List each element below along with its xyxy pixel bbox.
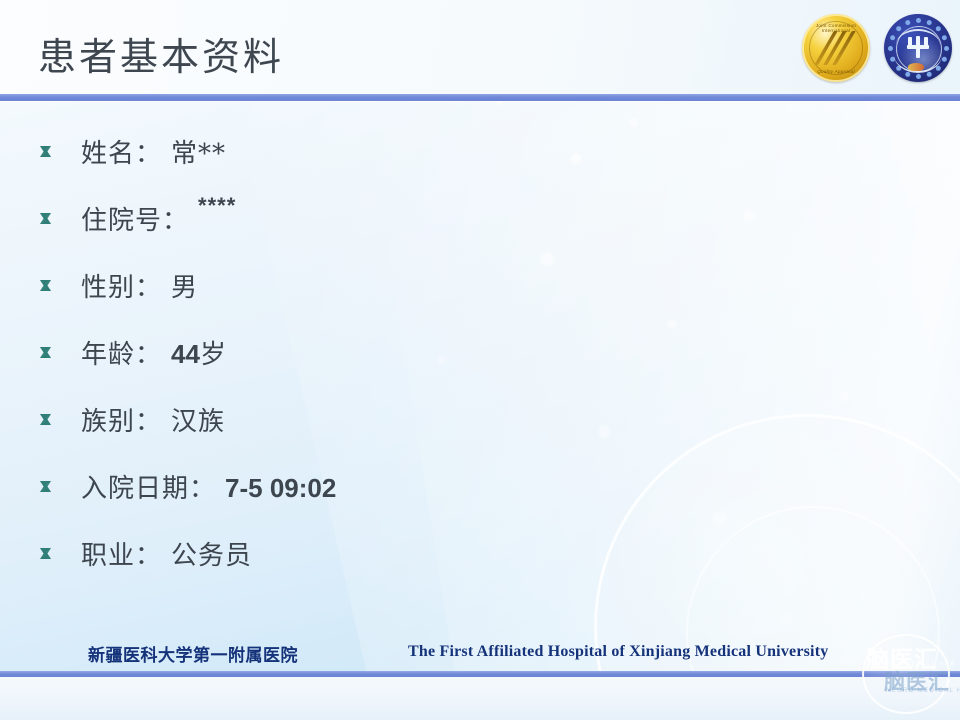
slide-footer: 新疆医科大学第一附属医院 The First Affiliated Hospit… xyxy=(0,640,960,720)
info-row-text: 性别：男 xyxy=(81,267,198,304)
jci-seal-bottom-text: Quality Approval xyxy=(802,69,870,74)
info-row-text: 住院号：**** xyxy=(81,200,236,237)
bullet-diamond-icon xyxy=(40,146,51,157)
info-row-colon: ： xyxy=(162,206,188,236)
bullet-diamond-icon xyxy=(40,213,51,224)
info-row-text: 职业：公务员 xyxy=(81,535,252,572)
info-row-colon: ： xyxy=(135,273,161,303)
page-title: 患者基本资料 xyxy=(38,26,284,81)
info-row-label: 性别 xyxy=(81,273,135,303)
info-row-value: 7-5 09:02 xyxy=(225,473,336,503)
bullet-diamond-icon xyxy=(40,481,51,492)
info-row-value: 公务员 xyxy=(171,541,252,571)
bullet-diamond-icon xyxy=(40,548,51,559)
logo-group: Joint Commission International Quality A… xyxy=(802,14,952,82)
info-row: 入院日期：7-5 09:02 xyxy=(0,453,960,520)
footer-band xyxy=(0,677,960,720)
bullet-diamond-icon xyxy=(40,414,51,425)
info-row-colon: ： xyxy=(135,340,161,370)
header-divider xyxy=(0,94,960,101)
info-row-text: 族别：汉族 xyxy=(81,401,225,438)
info-row: 性别：男 xyxy=(0,252,960,319)
info-row-colon: ： xyxy=(135,407,161,437)
info-row-text: 入院日期：7-5 09:02 xyxy=(81,468,336,505)
info-row-colon: ： xyxy=(135,139,161,169)
info-row: 年龄：44岁 xyxy=(0,319,960,386)
info-row-label: 姓名 xyxy=(81,139,135,169)
info-row: 姓名：常** xyxy=(0,118,960,185)
patient-info-list: 姓名：常**住院号：****性别：男年龄：44岁族别：汉族入院日期：7-5 09… xyxy=(0,118,960,587)
info-row-value: **** xyxy=(198,193,236,219)
info-row: 职业：公务员 xyxy=(0,520,960,587)
jci-slash-mark xyxy=(821,34,851,62)
info-row-label: 住院号 xyxy=(81,206,162,236)
info-row-value: 常** xyxy=(171,139,226,169)
info-row-value: 汉族 xyxy=(171,407,225,437)
slide-patient-basic-info: 患者基本资料 Joint Commission International Qu… xyxy=(0,0,960,720)
footer-hospital-name-cn: 新疆医科大学第一附属医院 xyxy=(88,641,298,666)
info-row-value-suffix: 岁 xyxy=(200,340,227,370)
info-row-text: 姓名：常** xyxy=(81,133,226,170)
info-row: 住院号：**** xyxy=(0,185,960,252)
info-row-label: 入院日期 xyxy=(81,474,189,504)
jci-gold-seal-icon: Joint Commission International Quality A… xyxy=(802,14,870,82)
info-row-label: 年龄 xyxy=(81,340,135,370)
info-row-label: 族别 xyxy=(81,407,135,437)
info-row-value: 男 xyxy=(171,273,198,303)
hospital-emblem-icon xyxy=(884,14,952,82)
info-row-value: 44 xyxy=(171,339,200,369)
info-row-colon: ： xyxy=(135,541,161,571)
info-row-colon: ： xyxy=(189,474,215,504)
slide-header: 患者基本资料 Joint Commission International Qu… xyxy=(0,0,960,96)
bullet-diamond-icon xyxy=(40,347,51,358)
info-row-text: 年龄：44岁 xyxy=(81,334,227,371)
bullet-diamond-icon xyxy=(40,280,51,291)
emblem-flame xyxy=(908,63,924,71)
footer-hospital-name-en: The First Affiliated Hospital of Xinjian… xyxy=(408,643,828,661)
info-row-label: 职业 xyxy=(81,541,135,571)
info-row: 族别：汉族 xyxy=(0,386,960,453)
emblem-medical-cross-icon xyxy=(907,36,929,58)
